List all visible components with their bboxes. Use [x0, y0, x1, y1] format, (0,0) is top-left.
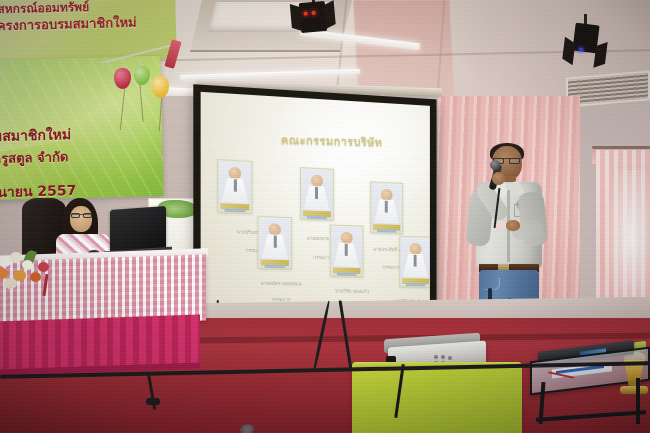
projector-button[interactable]: [441, 355, 445, 359]
flower-orange: [0, 268, 8, 279]
projector-table-cloth: [352, 368, 522, 433]
portrait-accent-strip: [336, 273, 356, 277]
microphone-capsule: [490, 160, 500, 170]
portrait-accent-strip: [307, 216, 327, 221]
portrait-head: [229, 167, 241, 180]
portrait-tie: [385, 201, 388, 213]
portrait-tie: [315, 187, 318, 199]
jeans-pocket: [484, 278, 500, 290]
portrait-accent-strip: [377, 229, 396, 234]
projection-screen-surface: คณะกรรมการบริษัท นายสุรินทร์ บัวเกษ กรรม…: [201, 92, 430, 317]
spotlight-led-icon: [311, 11, 315, 15]
portrait-accent-strip: [225, 208, 246, 213]
barn-door: [290, 4, 302, 31]
barn-door: [324, 0, 336, 29]
banner-line-2: ทรัพย์ครูสตูล จำกัด: [0, 146, 69, 170]
cable-connector: [146, 398, 160, 405]
fluorescent-light: [180, 69, 360, 80]
presenter-hand-right: [492, 172, 505, 185]
stage-spotlight-left: [299, 1, 328, 33]
portrait-accent-strip: [265, 264, 285, 269]
ceremonial-tray-base: [620, 386, 648, 394]
eyeglass-lens-right: [509, 158, 520, 164]
slide-title: คณะกรรมการบริษัท: [281, 131, 382, 152]
projector-button[interactable]: [434, 355, 438, 359]
attendee-head: [70, 206, 92, 232]
slide-member-name: นายวิชัย ทองแก้ว: [313, 289, 390, 297]
slide-portrait-card: [217, 159, 252, 213]
banner-top-line-2: โครงการอบรมสมาชิกใหม่: [0, 12, 137, 37]
flower-cream: [4, 278, 17, 289]
flower-orange: [30, 272, 41, 282]
slide-portrait-card: [329, 225, 362, 278]
flower-white: [10, 252, 22, 263]
flower-white: [22, 260, 33, 270]
photo-scene: สหกรณ์ออมทรัพย์ โครงการอบรมสมาชิกใหม่ อบ…: [0, 0, 650, 433]
portrait-head: [269, 223, 281, 236]
portrait-tie: [273, 235, 276, 247]
flower-arrangement: [0, 250, 56, 296]
flower-red: [38, 262, 49, 272]
projection-screen: คณะกรรมการบริษัท นายสุรินทร์ บัวเกษ กรรม…: [193, 84, 436, 324]
laptop-brand-logo-icon: [240, 424, 254, 433]
projector-hotspot: [272, 92, 430, 217]
presenter-hand-left: [506, 220, 520, 231]
portrait-accent-strip: [406, 283, 425, 287]
slide-portrait-card: [300, 167, 334, 220]
eyeglass-lens-left: [71, 213, 80, 218]
slide-portrait-card: [399, 236, 430, 288]
portrait-head: [340, 232, 352, 244]
portrait-head: [311, 175, 323, 188]
av-table-leg: [636, 378, 640, 424]
portrait-tie: [233, 179, 236, 191]
slide-member-name: นายสมัคร หมดสุขเล่: [241, 281, 320, 290]
spotlight-led-icon: [304, 11, 308, 15]
stage-spotlight-right: [572, 23, 599, 54]
slide-portrait-card: [258, 216, 292, 270]
spotlight-led-icon: [578, 47, 583, 52]
slide-portrait-card: [370, 181, 403, 234]
banner-line-1: อบรมสมาชิกใหม่: [0, 124, 71, 149]
portrait-tie: [414, 255, 417, 267]
banner-upper: สหกรณ์ออมทรัพย์ โครงการอบรมสมาชิกใหม่: [0, 0, 177, 64]
portrait-head: [381, 189, 393, 201]
eyeglass-lens-right: [83, 213, 92, 218]
portrait-head: [410, 243, 421, 255]
projector-button[interactable]: [448, 356, 452, 360]
curtain-rod: [592, 146, 650, 149]
portrait-tie: [345, 244, 348, 256]
